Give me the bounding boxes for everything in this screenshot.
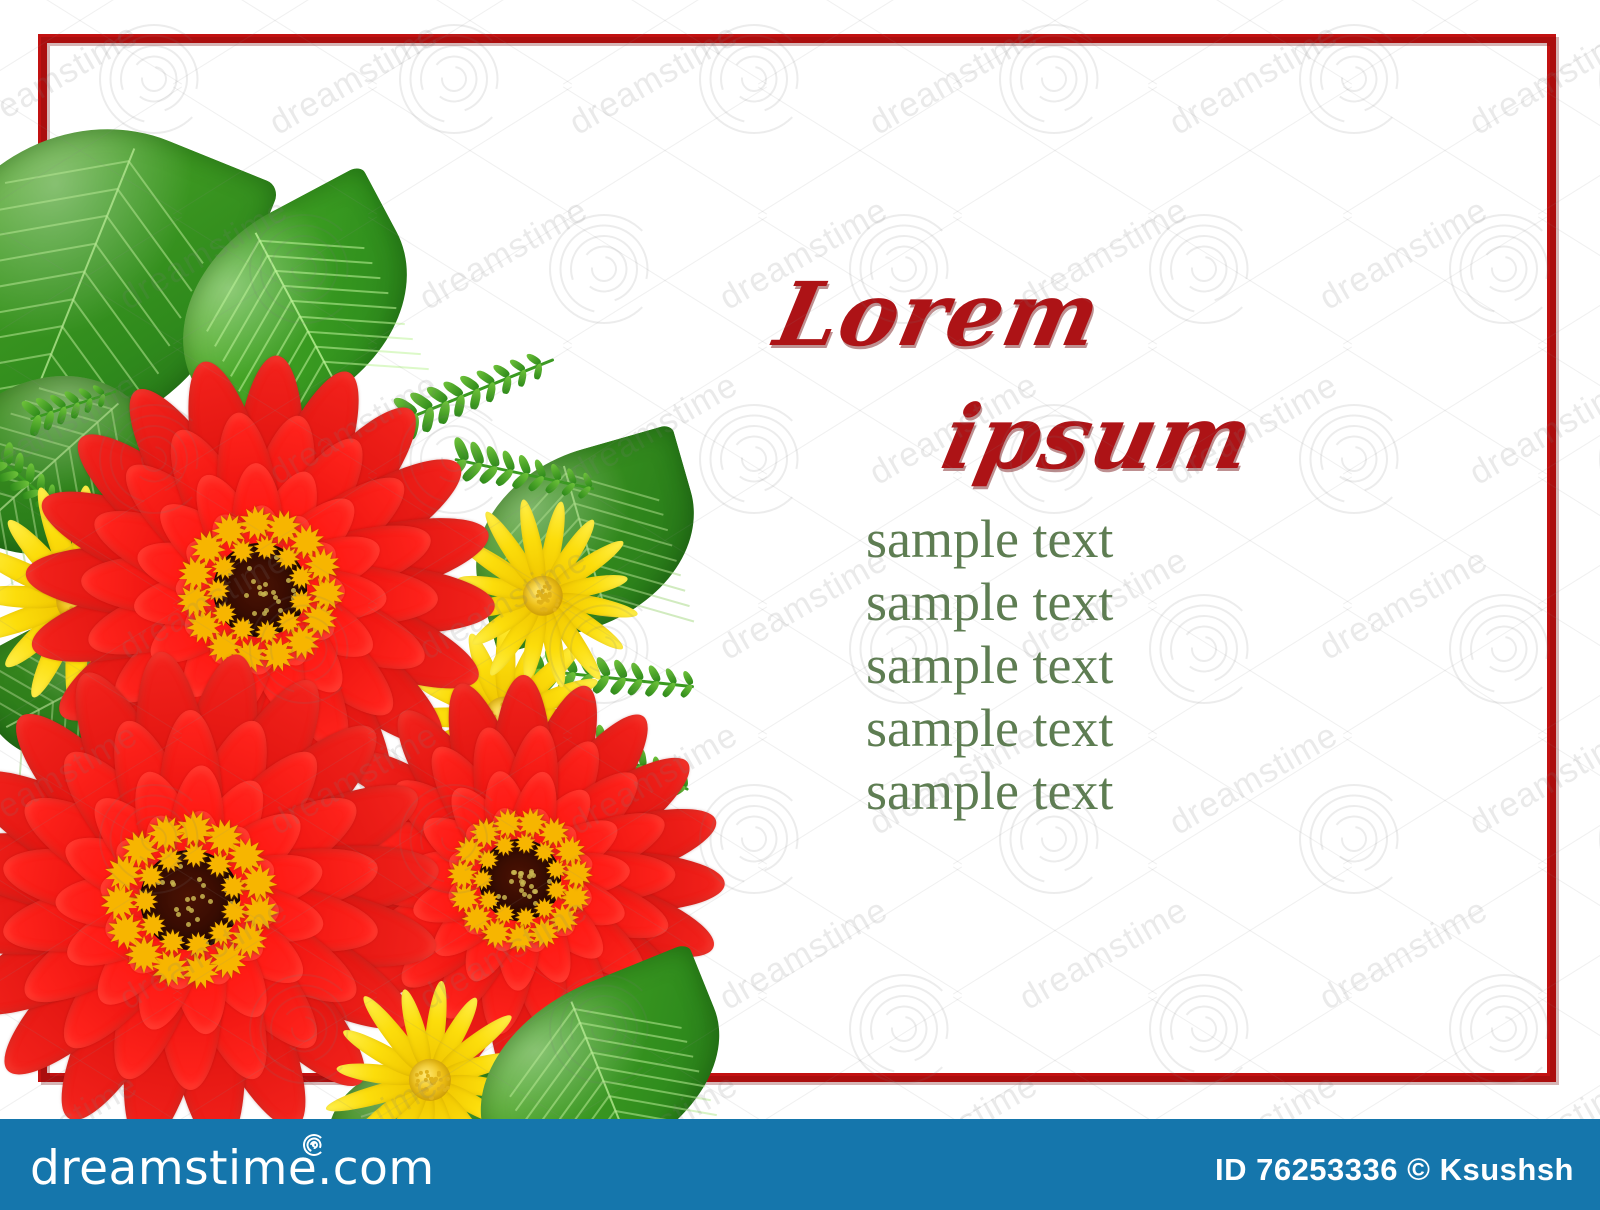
sample-text-line: sample text: [866, 638, 1113, 692]
daisy-eye-grain: [443, 1088, 447, 1092]
daisy-eye-grain: [437, 1087, 441, 1091]
spiral-icon: [302, 1133, 326, 1157]
leaf-midrib: [570, 1001, 630, 1119]
daisy-eye-grain: [424, 1078, 428, 1082]
headline-line-2: ipsum: [934, 385, 1263, 489]
disk-speck: [521, 880, 526, 885]
disk-speck: [171, 882, 176, 887]
leaf-vein: [521, 1037, 586, 1119]
disk-speck: [258, 591, 263, 596]
daisy-eye-grain: [430, 1096, 434, 1100]
daisy-eye-grain: [552, 608, 556, 612]
fern-pinna: [10, 479, 31, 492]
disk-speck: [509, 879, 514, 884]
disk-speck: [200, 894, 205, 899]
disk-speck: [197, 877, 202, 882]
disk-speck: [176, 912, 181, 917]
leaf-vein: [308, 330, 413, 339]
daisy-eye-grain: [416, 1078, 420, 1082]
daisy-eye-grain: [415, 1072, 419, 1076]
leaf-vein: [0, 216, 107, 239]
leaf-vein: [84, 271, 159, 374]
dreamstime-logo-text[interactable]: dreamstime.com: [30, 1141, 435, 1196]
daisy-eye-grain: [537, 599, 541, 603]
leaf-vein: [284, 285, 389, 294]
leaf-vein: [0, 298, 74, 321]
leaf-vein: [129, 161, 204, 264]
daisy-eye-grain: [439, 1078, 443, 1082]
daisy-eye-grain: [555, 603, 559, 607]
disk-speck: [208, 899, 213, 904]
leaf-vein: [0, 271, 85, 294]
leaf-vein: [0, 243, 96, 266]
sample-text-line: sample text: [866, 764, 1113, 818]
disk-speck: [185, 897, 190, 902]
daisy-eye-grain: [434, 1077, 438, 1081]
daisy-eye-grain: [425, 1087, 429, 1091]
disk-speck: [512, 870, 517, 875]
flower-photograph: ✹✹✹✹✹✹✹✹✹✹✹✹✹✹✹✹✹✹✹✹✹✹✹✹✹✹✹✹✹✹✹✹✹✹✹✹✹✹✹✹…: [0, 0, 1600, 1119]
daisy-eye-grain: [437, 1073, 441, 1077]
daisy-eye-grain: [542, 585, 546, 589]
leaf-vein: [95, 243, 170, 346]
leaf-vein: [5, 161, 129, 184]
sample-text-line: sample text: [866, 512, 1113, 566]
disk-speck: [257, 585, 262, 590]
disk-speck: [201, 883, 206, 888]
daisy-eye-grain: [548, 594, 552, 598]
disk-speck: [186, 922, 191, 927]
leaf-vein: [300, 315, 405, 324]
leaf-vein: [615, 1110, 723, 1119]
daisy-eye-grain: [536, 594, 540, 598]
daisy-eye-grain: [415, 1083, 419, 1087]
sample-text-line: sample text: [866, 701, 1113, 755]
disk-speck: [195, 917, 200, 922]
leaf-vein: [260, 240, 365, 249]
disk-speck: [189, 908, 194, 913]
daisy-eye-grain: [547, 585, 551, 589]
leaf-vein: [515, 1022, 580, 1111]
daisy-eye-grain: [426, 1074, 430, 1078]
leaf-vein: [268, 255, 373, 264]
image-credit-line: ID 76253336 © Ksushsh: [1215, 1152, 1574, 1188]
leaf-vein: [292, 300, 397, 309]
stock-photo-canvas: ✹✹✹✹✹✹✹✹✹✹✹✹✹✹✹✹✹✹✹✹✹✹✹✹✹✹✹✹✹✹✹✹✹✹✹✹✹✹✹✹…: [0, 0, 1600, 1210]
disk-speck: [527, 894, 532, 899]
daisy-eye-grain: [556, 599, 560, 603]
disk-speck: [271, 590, 276, 595]
disk-speck: [529, 869, 534, 874]
leaf-vein: [316, 345, 421, 354]
disk-speck: [191, 896, 196, 901]
disk-speck: [263, 582, 268, 587]
disk-speck: [529, 884, 534, 889]
leaf-vein: [117, 188, 192, 291]
daisy-eye-grain: [446, 1077, 450, 1081]
leaf-vein: [106, 216, 181, 319]
disk-speck: [251, 579, 256, 584]
disk-speck: [276, 599, 281, 604]
disk-speck: [244, 593, 249, 598]
disk-speck: [263, 591, 268, 596]
daisy-eye-grain: [419, 1071, 423, 1075]
headline-line-1: Lorem: [767, 262, 1110, 366]
sample-text-line: sample text: [866, 575, 1113, 629]
disk-speck: [247, 566, 252, 571]
leaf-vein: [0, 188, 118, 211]
leaf-vein: [276, 270, 381, 279]
